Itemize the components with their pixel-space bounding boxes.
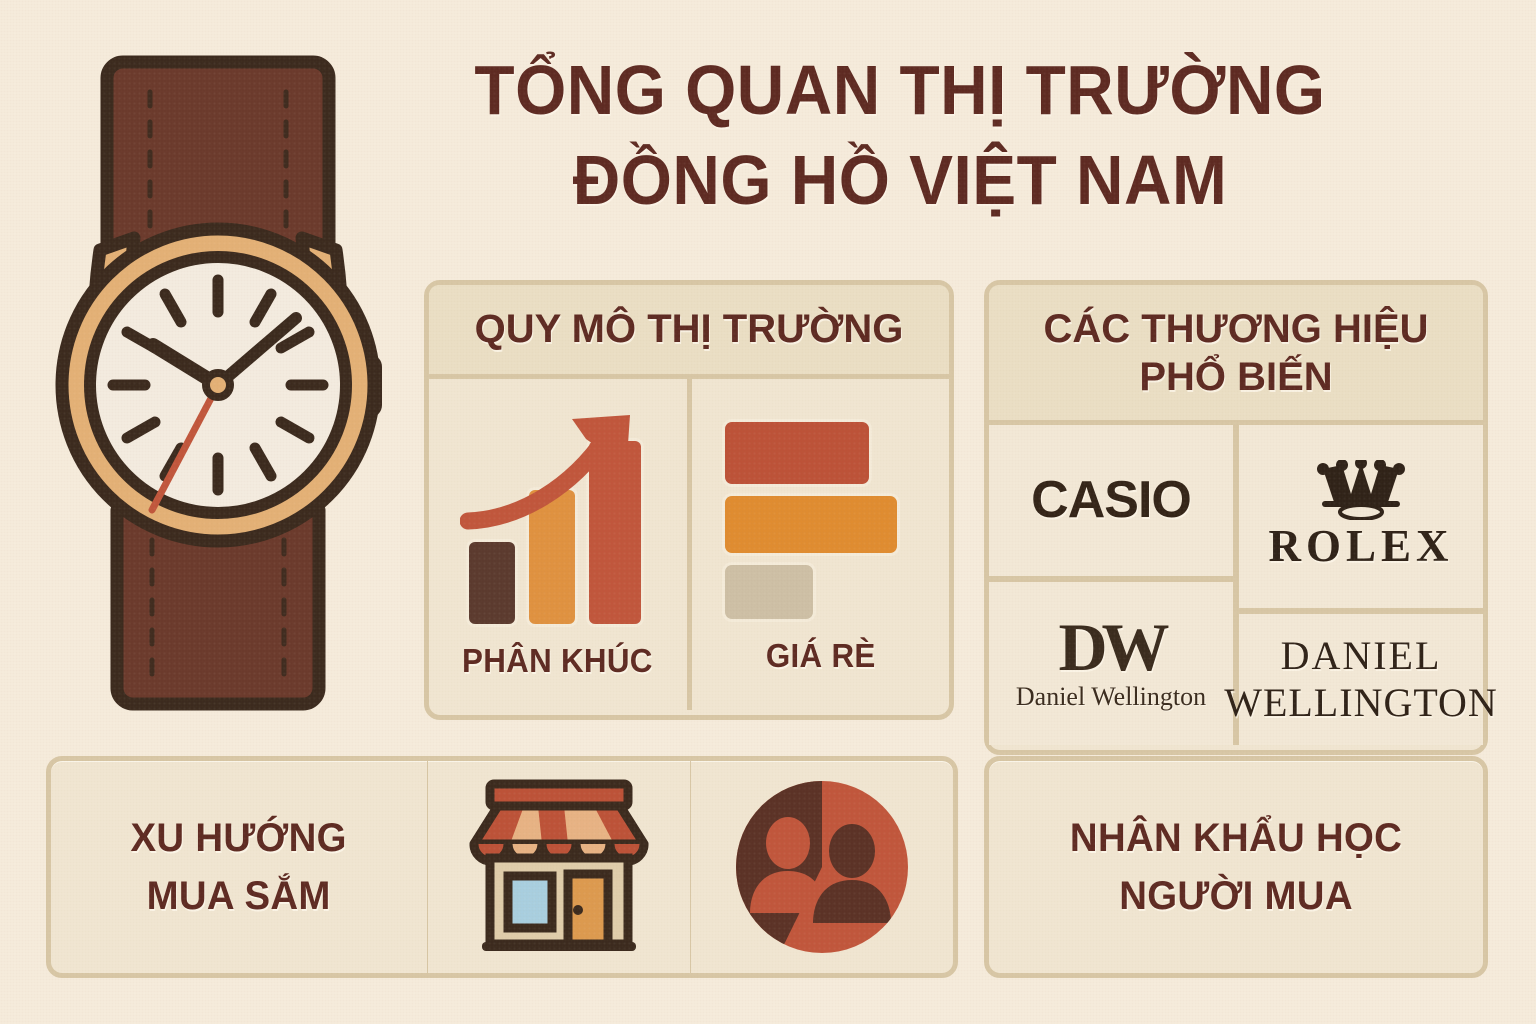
buyer-people-cell[interactable] — [691, 761, 953, 973]
market-size-body: PHÂN KHÚC GIÁ RÈ — [429, 379, 949, 710]
two-people-circle-icon — [734, 779, 910, 955]
infographic-canvas: TỔNG QUAN THỊ TRƯỜNG ĐỒNG HỒ VIỆT NAM — [0, 0, 1536, 1024]
popular-brands-heading-line1: CÁC THƯƠNG HIỆU — [1043, 305, 1428, 353]
dw-subtitle: Daniel Wellington — [1016, 682, 1206, 712]
buyer-demographics-label-line1: NHÂN KHẨU HỌC — [1070, 809, 1402, 867]
dw-wordmark-line2: WELLINGTON — [1224, 679, 1498, 726]
wristwatch-illustration — [28, 40, 428, 740]
price-cell[interactable]: GIÁ RÈ — [692, 379, 950, 710]
page-title-line1: TỔNG QUAN THỊ TRƯỜNG — [474, 51, 1325, 129]
brand-cell-casio[interactable]: CASIO — [989, 425, 1236, 579]
shopping-trend-body: XU HƯỚNG MUA SẮM — [51, 761, 953, 973]
brand-grid: CASIO ROLEX DW Daniel Wellingt — [989, 425, 1483, 745]
shopping-trend-label-line2: MUA SẮM — [131, 867, 347, 925]
page-title-line2: ĐỒNG HỒ VIỆT NAM — [449, 136, 1351, 226]
market-size-heading: QUY MÔ THỊ TRƯỜNG — [429, 285, 949, 379]
segment-caption: PHÂN KHÚC — [462, 642, 653, 680]
brand-cell-daniel-wellington-monogram[interactable]: DW Daniel Wellington — [989, 579, 1236, 745]
dw-monogram: DW — [1058, 615, 1163, 680]
page-title: TỔNG QUAN THỊ TRƯỜNG ĐỒNG HỒ VIỆT NAM — [449, 46, 1351, 225]
shopping-trend-panel[interactable]: XU HƯỚNG MUA SẮM — [46, 756, 958, 978]
popular-brands-heading: CÁC THƯƠNG HIỆU PHỔ BIẾN — [989, 285, 1483, 425]
popular-brands-heading-line2: PHỔ BIẾN — [1139, 353, 1332, 401]
price-caption: GIÁ RÈ — [765, 637, 875, 675]
storefront-icon — [466, 778, 652, 956]
shopping-trend-label: XU HƯỚNG MUA SẮM — [131, 809, 347, 925]
casio-wordmark: CASIO — [1031, 470, 1191, 530]
market-size-panel[interactable]: QUY MÔ THỊ TRƯỜNG PHÂN KHÚC — [424, 280, 954, 720]
dw-wordmark-line1: DANIEL — [1281, 632, 1442, 679]
shopping-trend-label-cell: XU HƯỚNG MUA SẮM — [51, 761, 427, 973]
growth-bar-chart-icon — [463, 409, 653, 624]
rolex-crown-icon — [1315, 460, 1407, 520]
price-tier-bars-icon — [725, 422, 915, 619]
buyer-demographics-label: NHÂN KHẨU HỌC NGƯỜI MUA — [1070, 809, 1402, 925]
popular-brands-panel[interactable]: CÁC THƯƠNG HIỆU PHỔ BIẾN CASIO — [984, 280, 1488, 755]
buyer-demographics-label-line2: NGƯỜI MUA — [1070, 867, 1402, 925]
brand-cell-daniel-wellington-wordmark[interactable]: DANIEL WELLINGTON — [1236, 611, 1483, 745]
segment-cell[interactable]: PHÂN KHÚC — [429, 379, 687, 710]
rolex-wordmark: ROLEX — [1268, 520, 1453, 572]
shopping-trend-label-line1: XU HƯỚNG — [131, 809, 347, 867]
buyer-demographics-panel[interactable]: NHÂN KHẨU HỌC NGƯỜI MUA — [984, 756, 1488, 978]
brand-cell-rolex[interactable]: ROLEX — [1236, 425, 1483, 611]
storefront-cell[interactable] — [428, 761, 690, 973]
